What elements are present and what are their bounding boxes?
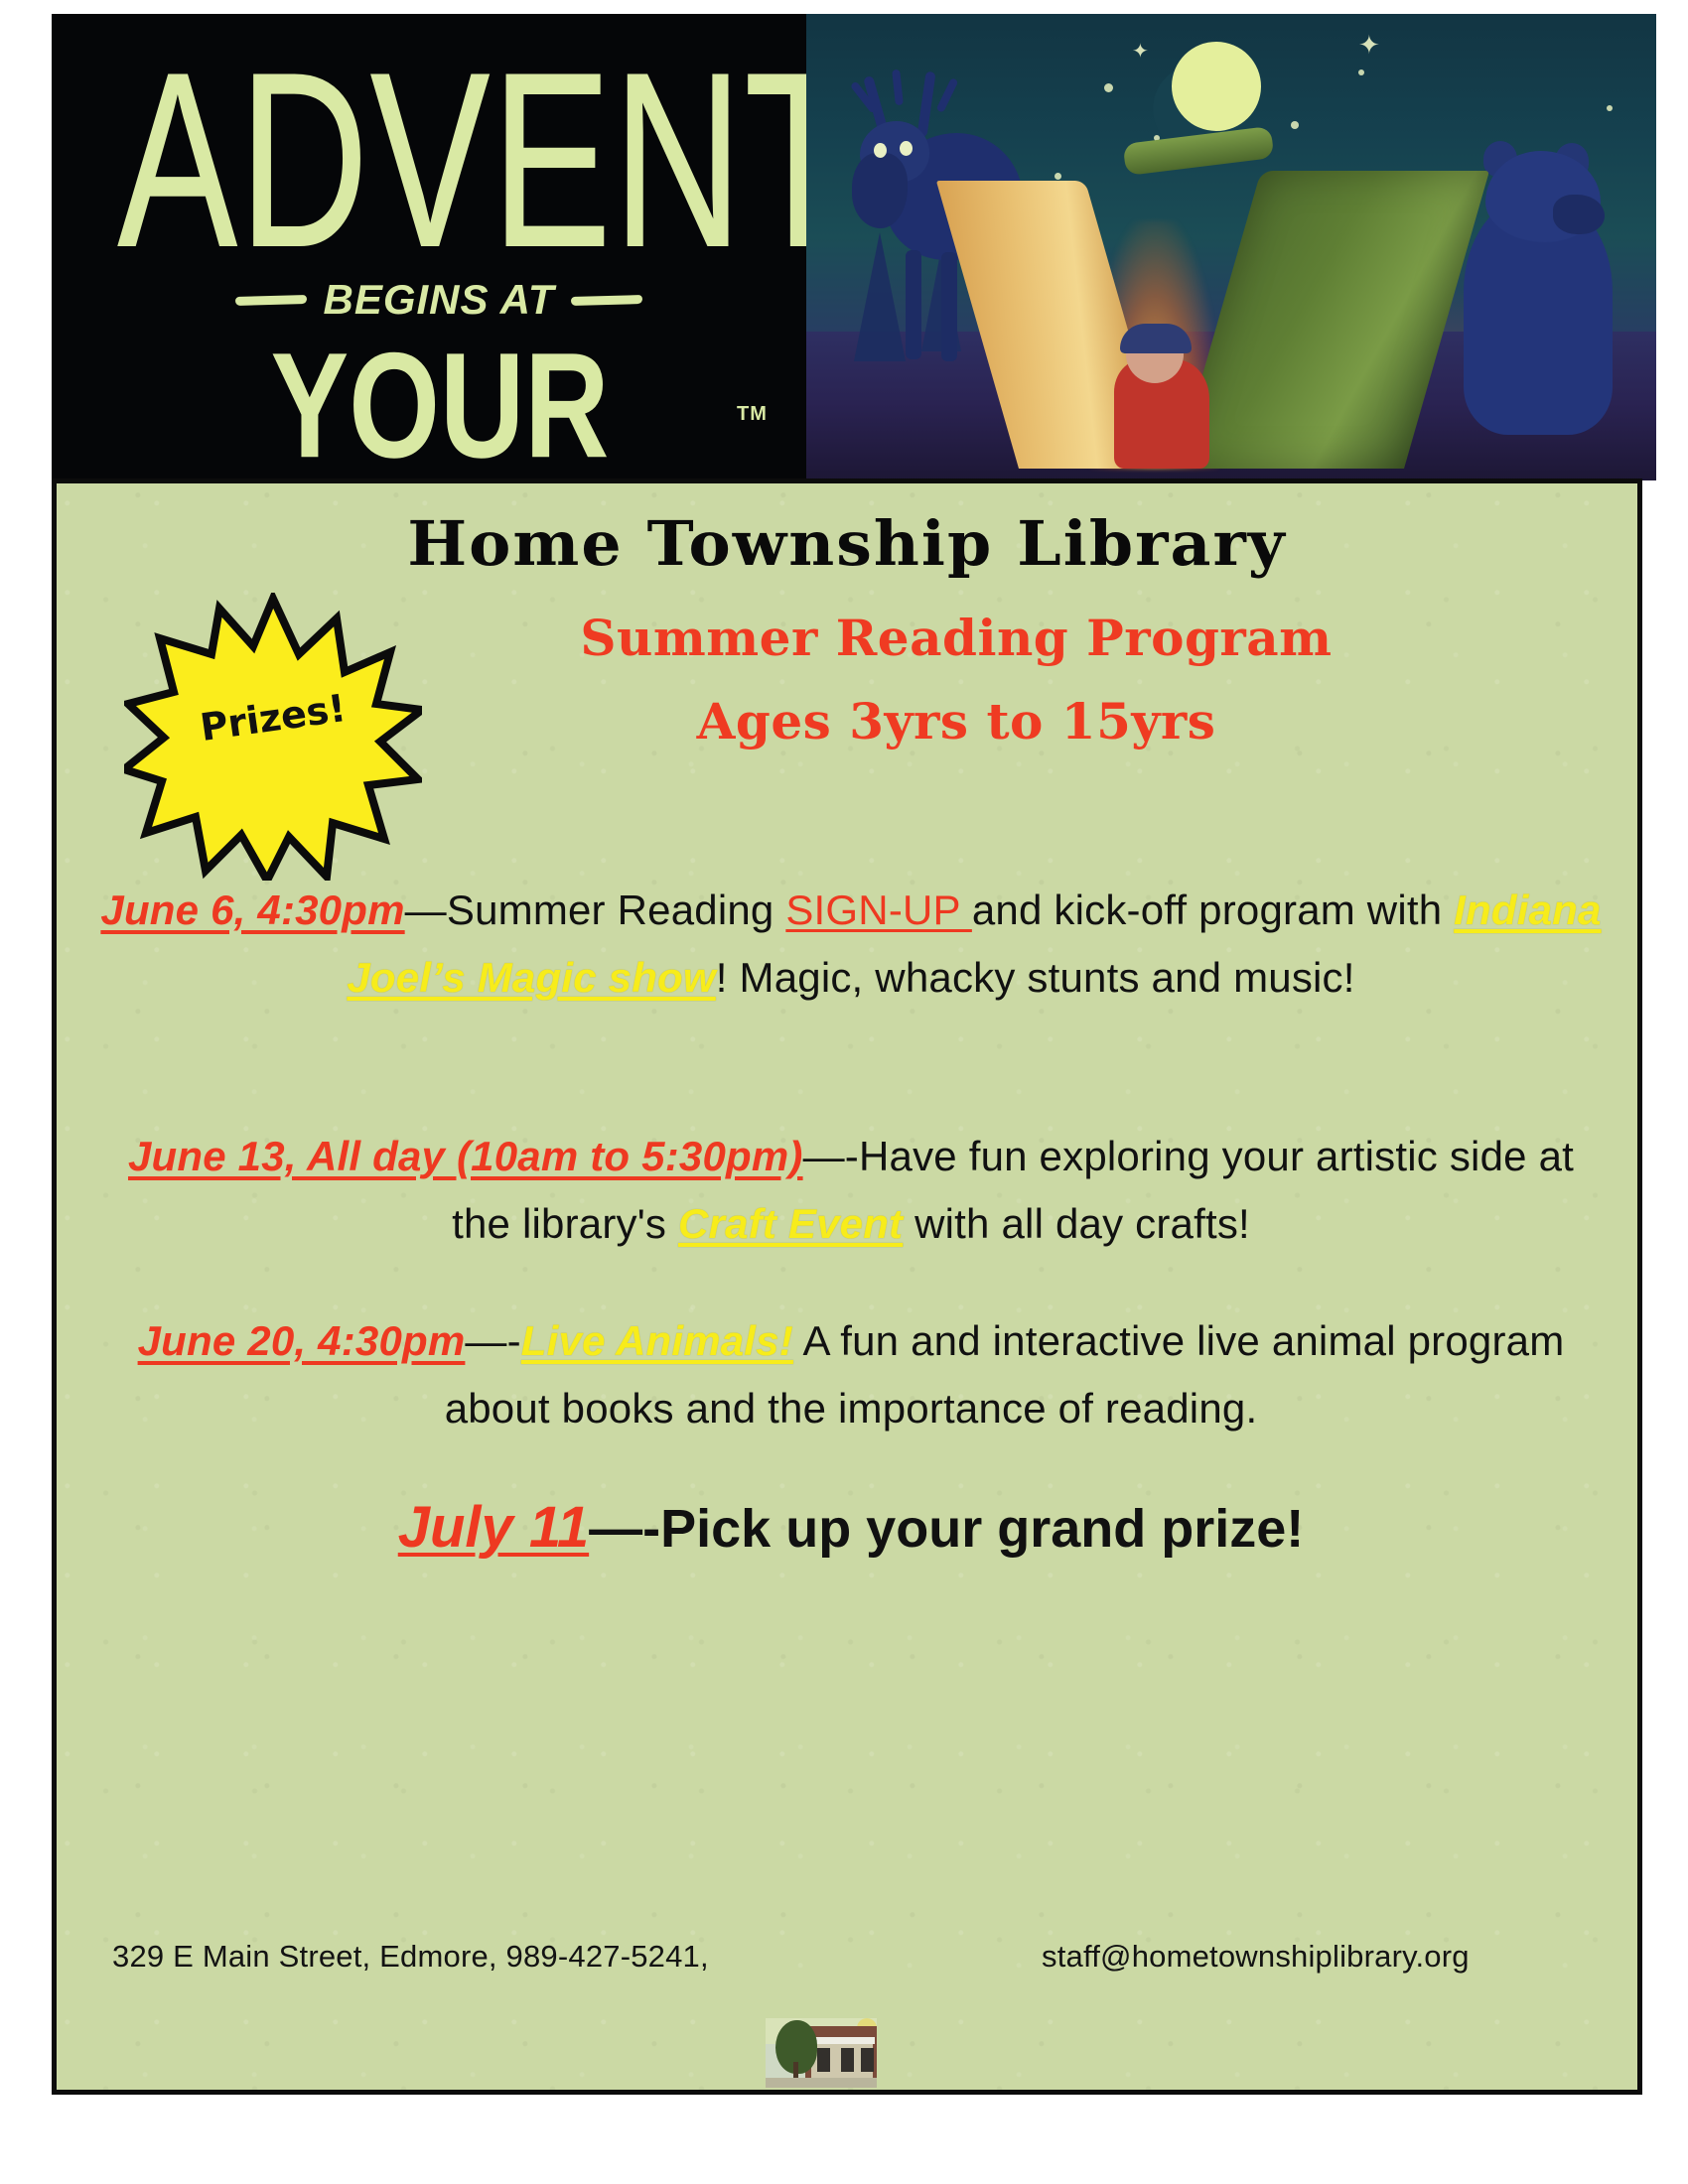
event-text-c: ! Magic, whacky stunts and music!: [716, 954, 1355, 1001]
event-signup-link: SIGN-UP: [785, 887, 972, 933]
event-highlight: Craft Event: [678, 1200, 903, 1247]
antler-icon: [916, 71, 935, 138]
event-item-june-13: June 13, All day (10am to 5:30pm)—-Have …: [94, 1123, 1608, 1258]
banner-wordmark-panel: ADVENTURE BEGINS AT YOUR LIBRARY TM: [52, 14, 806, 480]
final-event-date: July 11: [398, 1495, 589, 1560]
library-building-photo: [766, 2018, 877, 2088]
program-title-heading: Summer Reading Program: [354, 609, 1558, 667]
event-dash: —: [405, 887, 447, 933]
event-date: June 6, 4:30pm: [100, 887, 404, 933]
footer-email[interactable]: staff@hometownshiplibrary.org: [1042, 1939, 1470, 1975]
photo-awning: [809, 2037, 875, 2044]
final-event-text: Pick up your grand prize!: [660, 1499, 1304, 1559]
book-tent-illustration: [995, 141, 1412, 469]
antler-tine-icon: [892, 69, 904, 106]
prizes-starburst-badge: Prizes!: [124, 593, 422, 881]
bear-snout: [1553, 195, 1605, 234]
photo-window: [841, 2048, 854, 2072]
event-dash: —-: [465, 1317, 520, 1364]
star-icon: [1104, 83, 1113, 92]
child-reader-cap: [1120, 324, 1192, 353]
antler-tine-icon: [936, 77, 959, 113]
moose-leg: [941, 252, 957, 361]
event-date: June 13, All day (10am to 5:30pm): [128, 1133, 803, 1179]
event-item-june-6: June 6, 4:30pm—Summer Reading SIGN-UP an…: [94, 877, 1608, 1012]
wordmark-begins-at: BEGINS AT: [323, 276, 554, 324]
event-highlight: Live Animals!: [521, 1317, 793, 1364]
photo-window: [817, 2048, 830, 2072]
trademark-symbol: TM: [737, 403, 768, 426]
event-item-july-11: July 11—-Pick up your grand prize!: [94, 1494, 1608, 1561]
sparkle-icon: ✦: [1132, 42, 1149, 62]
star-icon: [1607, 105, 1613, 111]
moose-snout: [852, 153, 908, 228]
event-text-a: Summer Reading: [447, 887, 785, 933]
moose-leg: [906, 250, 921, 359]
wordmark-adventure: ADVENTURE: [118, 42, 761, 278]
event-item-june-20: June 20, 4:30pm—-Live Animals! A fun and…: [94, 1307, 1608, 1442]
hero-banner: ADVENTURE BEGINS AT YOUR LIBRARY TM: [52, 14, 1656, 480]
banner-illustration: ✦ ✦ ✦ ✦: [806, 14, 1656, 480]
dash-left-icon: [235, 295, 307, 306]
library-name-heading: Home Township Library: [41, 507, 1653, 580]
moose-eye: [900, 141, 913, 156]
sparkle-icon: ✦: [1358, 32, 1380, 58]
photo-foreground: [766, 2078, 877, 2088]
star-icon: [1358, 69, 1364, 75]
moose-eye: [874, 143, 887, 158]
wordmark-your-library: YOUR LIBRARY: [99, 320, 780, 480]
flyer-content-sheet: Home Township Library Summer Reading Pro…: [52, 478, 1642, 2095]
event-text-b: and kick-off program with: [972, 887, 1454, 933]
event-date: June 20, 4:30pm: [138, 1317, 466, 1364]
flyer-page: ADVENTURE BEGINS AT YOUR LIBRARY TM: [0, 0, 1688, 2184]
dash-right-icon: [571, 295, 642, 306]
wordmark-begins-row: BEGINS AT: [111, 276, 767, 324]
event-text-b: with all day crafts!: [903, 1200, 1250, 1247]
program-ages-heading: Ages 3yrs to 15yrs: [354, 692, 1558, 751]
final-event-dash: —-: [589, 1499, 660, 1559]
photo-tree-trunk: [793, 2062, 798, 2078]
footer-address: 329 E Main Street, Edmore, 989-427-5241,: [112, 1939, 709, 1975]
event-dash: —-: [803, 1133, 859, 1179]
photo-window: [861, 2048, 874, 2072]
star-icon: [1291, 121, 1299, 129]
